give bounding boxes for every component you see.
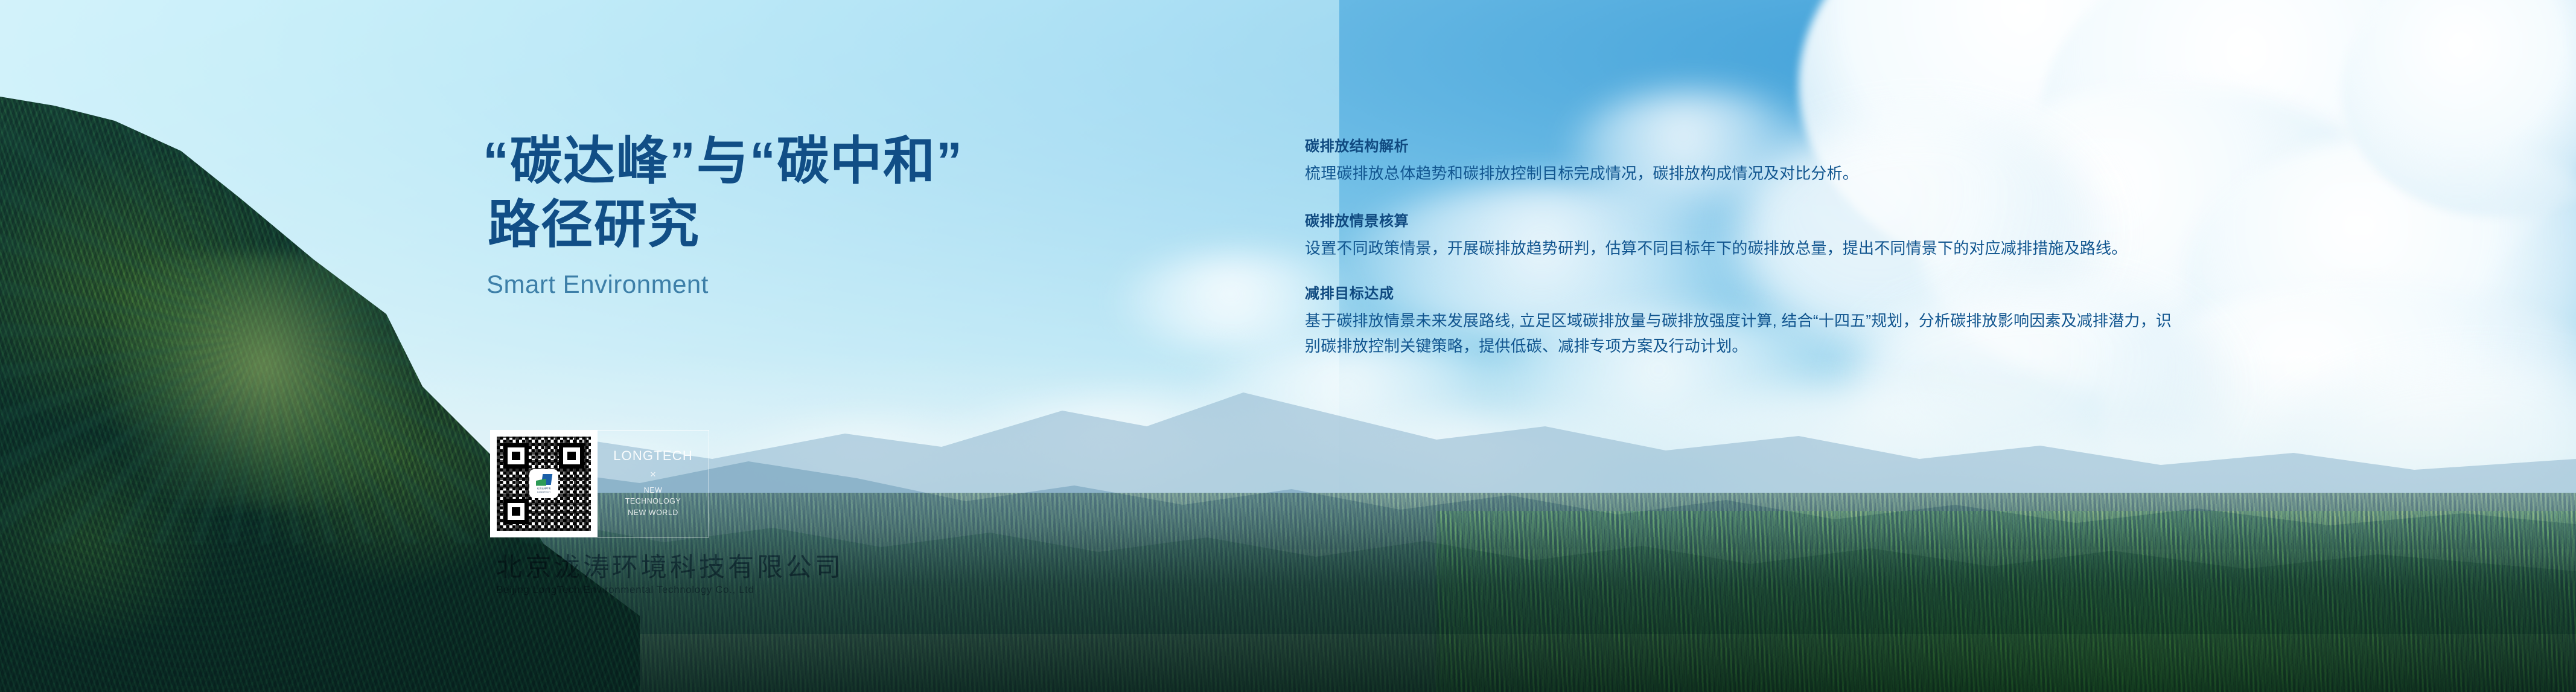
page-title-line-2: 路径研究 [483,193,1207,257]
hero-banner: “碳达峰”与“碳中和” 路径研究 Smart Environment 北京泷涛环… [0,0,2576,692]
brand-tagline-line-3: NEW WORLD [625,507,681,518]
qr-finder-bottom-left [503,499,529,524]
qr-finder-top-right [559,443,584,469]
page-title: “碳达峰”与“碳中和” 路径研究 [483,130,1207,257]
qr-center-logo: 北京泷涛环境 LONGTECH [531,470,557,497]
company-name-en: Beijing LongTech Environmental Technolog… [496,584,844,596]
qr-logo-caption-cn: 北京泷涛环境 [537,487,551,490]
info-body: 设置不同政策情景，开展碳排放趋势研判，估算不同目标年下的碳排放总量，提出不同情景… [1305,235,2186,261]
info-column: 碳排放结构解析 梳理碳排放总体趋势和碳排放控制目标完成情况，碳排放构成情况及对比… [1305,138,2186,359]
qr-finder-top-left [503,443,529,469]
brand-panel: LONGTECH × NEW TECHNOLOGY NEW WORLD [598,430,709,537]
page-title-line-1: “碳达峰”与“碳中和” [483,132,963,190]
info-heading: 减排目标达成 [1305,285,2186,303]
forest-highlight [1436,511,2576,692]
info-block-carbon-structure: 碳排放结构解析 梳理碳排放总体趋势和碳排放控制目标完成情况，碳排放构成情况及对比… [1305,138,2186,186]
info-block-reduction-target: 减排目标达成 基于碳排放情景未来发展路线, 立足区域碳排放量与碳排放强度计算, … [1305,285,2186,359]
brand-tagline: NEW TECHNOLOGY NEW WORLD [625,485,681,517]
qr-block[interactable]: 北京泷涛环境 LONGTECH LONGTECH × NEW TECHNOLOG… [490,430,709,537]
info-heading: 碳排放结构解析 [1305,138,2186,156]
info-block-scenario-accounting: 碳排放情景核算 设置不同政策情景，开展碳排放趋势研判，估算不同目标年下的碳排放总… [1305,213,2186,261]
qr-logo-caption-en: LONGTECH [537,491,550,493]
title-column: “碳达峰”与“碳中和” 路径研究 Smart Environment [483,130,1207,299]
longtech-logo-icon [536,474,552,486]
info-heading: 碳排放情景核算 [1305,213,2186,231]
cross-icon: × [650,469,656,479]
info-body: 梳理碳排放总体趋势和碳排放控制目标完成情况，碳排放构成情况及对比分析。 [1305,161,2186,186]
info-body: 基于碳排放情景未来发展路线, 立足区域碳排放量与碳排放强度计算, 结合“十四五”… [1305,308,2186,359]
qr-code-card[interactable]: 北京泷涛环境 LONGTECH [490,430,598,537]
company-signature: 北京泷涛环境科技有限公司 Beijing LongTech Environmen… [496,554,844,596]
logo-green-shape [536,479,546,486]
brand-tagline-line-1: NEW [625,485,681,496]
brand-tagline-line-2: TECHNOLOGY [625,496,681,507]
brand-name: LONGTECH [613,449,693,463]
page-subtitle: Smart Environment [486,270,1207,299]
qr-code-image[interactable]: 北京泷涛环境 LONGTECH [497,437,591,531]
company-name-cn: 北京泷涛环境科技有限公司 [496,554,844,581]
